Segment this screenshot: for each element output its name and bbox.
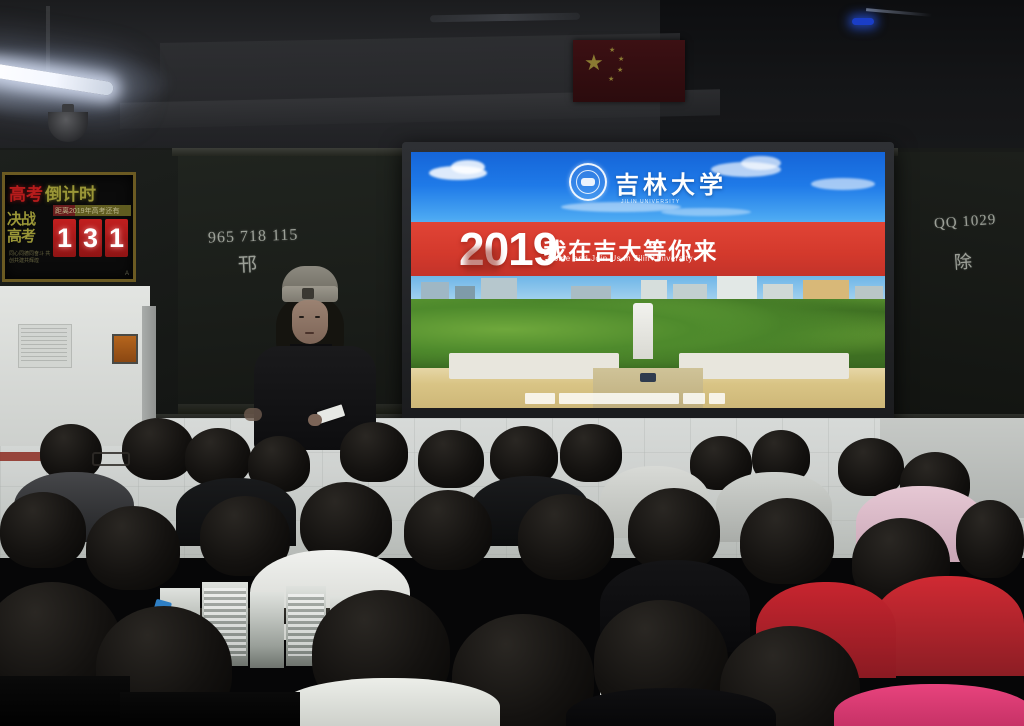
countdown-digit: 1 (53, 219, 76, 257)
student-head (956, 500, 1024, 578)
university-name-en: JILIN UNIVERSITY (621, 199, 680, 205)
flag-star-small: ★ (608, 76, 614, 83)
student-head (0, 492, 86, 568)
slide-red-banner: 2019 我在吉大等你来 Come and Join Us in Jilin U… (411, 222, 885, 276)
foreground-shadow (0, 676, 130, 726)
campus-wall-right (679, 353, 849, 379)
cloud (661, 208, 751, 216)
gaokao-countdown-sign: 高考 倒计时 距离2019年高考还有 决战 高考 同心同德同奋斗 共创共建共辉煌… (2, 172, 136, 282)
student-head (740, 498, 834, 584)
classroom-photo: ★ ★ ★ ★ ★ 高考 倒计时 距离2019年高考还有 决战 高考 同心同德同… (0, 0, 1024, 726)
presenter-eye (299, 316, 304, 318)
student-head (404, 490, 492, 570)
interactive-display-panel[interactable]: 吉林大学 JILIN UNIVERSITY 2019 我在吉大等你来 Come … (402, 142, 894, 430)
university-logo: 吉林大学 JILIN UNIVERSITY (569, 163, 727, 201)
countdown-digit: 3 (79, 219, 102, 257)
foreground-shadow (120, 692, 300, 726)
presentation-slide: 吉林大学 JILIN UNIVERSITY 2019 我在吉大等你来 Come … (411, 152, 885, 408)
cloud (451, 160, 485, 174)
slide-campus-photo (411, 276, 885, 408)
blackboard-right-panel (894, 152, 1024, 420)
student-body (834, 684, 1024, 726)
chalk-right-character: 除 (953, 247, 974, 274)
campus-monument (633, 303, 653, 359)
chinese-flag: ★ ★ ★ ★ ★ (573, 40, 685, 102)
flag-star-small: ★ (609, 47, 615, 54)
student-head (340, 422, 408, 482)
audience (0, 400, 1024, 726)
wall-notice-text-lines (21, 328, 67, 362)
campus-vehicle (640, 373, 656, 382)
blue-indicator-led-icon (852, 18, 874, 25)
presenter-face (292, 300, 328, 344)
presenter-mouth (305, 332, 314, 334)
countdown-subtitle: 距离2019年高考还有 (53, 205, 131, 216)
projection-artifact (465, 248, 499, 272)
countdown-title: 高考 倒计时 (9, 181, 129, 203)
university-name-cn: 吉林大学 (615, 165, 727, 200)
cloud (811, 178, 875, 190)
countdown-side-text: 决战 高考 (7, 211, 51, 245)
student-body (280, 678, 500, 726)
student-head (838, 438, 904, 496)
countdown-digit: 1 (105, 219, 128, 257)
university-seal-icon (569, 163, 607, 201)
presenter-hat-logo (302, 288, 314, 299)
eyeglasses-icon (92, 452, 130, 466)
countdown-digits: 1 3 1 (53, 219, 128, 257)
student-head (518, 494, 614, 580)
flag-star-small: ★ (617, 67, 623, 74)
student-head (418, 430, 484, 488)
flag-star-small: ★ (618, 56, 624, 63)
countdown-corner-mark: A (125, 271, 129, 277)
flag-star-large: ★ (584, 52, 604, 74)
countdown-title-yellow: 倒计时 (45, 180, 96, 205)
student-head (86, 506, 180, 590)
slide-slogan-english: Come and Join Us in Jilin University (547, 254, 693, 263)
orange-warning-sign-icon (112, 334, 138, 364)
slide-slogan-group: 我在吉大等你来 Come and Join Us in Jilin Univer… (543, 232, 718, 266)
countdown-footer-text: 同心同德同奋斗 共创共建共辉煌 (9, 251, 53, 265)
cloud (741, 156, 781, 170)
presenter-eye (315, 316, 320, 318)
chalk-left-numbers: 965 718 115 (208, 226, 299, 247)
student-head (122, 418, 194, 480)
book-stack (250, 592, 284, 668)
countdown-title-red: 高考 (9, 180, 43, 205)
ceiling-dark-region (660, 0, 1024, 150)
student-head (560, 424, 622, 482)
